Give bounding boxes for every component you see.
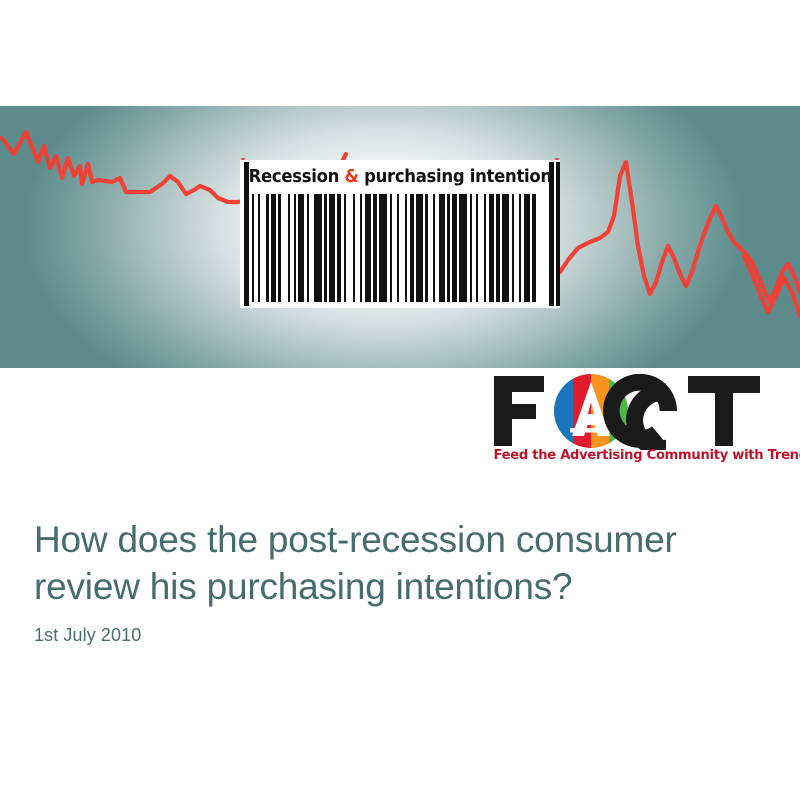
barcode-bar xyxy=(439,194,445,302)
barcode-bar xyxy=(524,194,530,302)
barcode-bar xyxy=(266,194,269,302)
barcode-bar xyxy=(416,194,423,302)
barcode-bar xyxy=(271,194,276,302)
page-title: How does the post-recession consumer rev… xyxy=(34,516,764,610)
barcode-bar xyxy=(502,194,509,302)
barcode-bar xyxy=(410,194,414,302)
barcode-bar xyxy=(496,194,500,302)
barcode-title-prefix: Recession xyxy=(248,167,344,187)
logo-letter-f xyxy=(494,376,544,446)
barcode-bar xyxy=(397,194,399,302)
barcode-bar xyxy=(532,194,536,302)
barcode-bar xyxy=(405,194,407,302)
barcode-bar xyxy=(484,194,486,302)
barcode-bar xyxy=(329,194,335,302)
fact-logo: Feed the Advertising Community with Tren… xyxy=(492,372,792,476)
barcode-bar xyxy=(489,194,494,302)
barcode-bar xyxy=(324,194,327,302)
fact-logo-tagline: Feed the Advertising Community with Tren… xyxy=(494,448,791,463)
barcode-bar xyxy=(459,194,467,302)
barcode-bar xyxy=(433,194,435,302)
barcode-bar xyxy=(425,194,428,302)
barcode-bar xyxy=(512,194,514,302)
barcode-bar xyxy=(307,194,309,302)
barcode-graphic: Recession & purchasing intention xyxy=(240,160,560,308)
barcode-bar xyxy=(344,194,346,302)
recession-banner: Recession & purchasing intention xyxy=(0,106,800,368)
page-date: 1st July 2010 xyxy=(34,624,764,646)
barcode-bar xyxy=(288,194,290,302)
barcode-bars xyxy=(248,194,552,302)
barcode-bar xyxy=(519,194,521,302)
barcode-bar xyxy=(360,194,362,302)
barcode-bar xyxy=(258,194,260,302)
banner-artwork: Recession & purchasing intention xyxy=(0,106,800,368)
barcode-bar xyxy=(365,194,371,302)
barcode-guard-right-outer xyxy=(556,162,560,306)
barcode-title-ampersand: & xyxy=(344,167,358,187)
barcode-bar xyxy=(353,194,355,302)
barcode-bar xyxy=(390,194,392,302)
barcode-bar xyxy=(298,194,304,302)
barcode-title-suffix: purchasing intention xyxy=(358,167,551,187)
barcode-bar xyxy=(337,194,341,302)
barcode-bar xyxy=(314,194,322,302)
barcode-bar xyxy=(373,194,377,302)
logo-letter-t xyxy=(688,376,760,446)
barcode-bar xyxy=(447,194,450,302)
barcode-bar xyxy=(379,194,387,302)
barcode-bar xyxy=(452,194,457,302)
barcode-bar xyxy=(294,194,296,302)
barcode-bar xyxy=(476,194,478,302)
barcode-title: Recession & purchasing intention xyxy=(240,160,560,194)
fact-logo-mark xyxy=(492,372,792,450)
barcode-bar xyxy=(252,194,254,302)
barcode-bar xyxy=(470,194,472,302)
title-block: How does the post-recession consumer rev… xyxy=(34,516,764,646)
barcode-bar xyxy=(278,194,281,302)
